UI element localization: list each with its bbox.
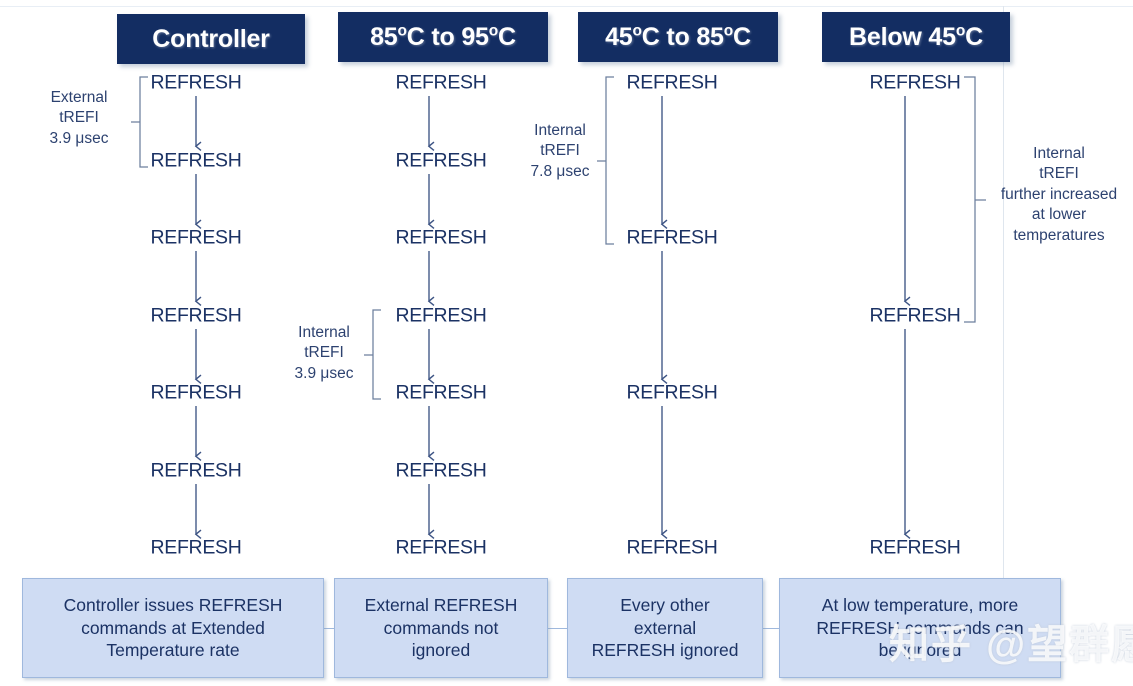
refresh-label: REFRESH — [395, 72, 486, 95]
top-guide-line — [0, 6, 1133, 7]
refresh-label: REFRESH — [150, 305, 241, 328]
note-connector — [545, 628, 569, 629]
diagram-canvas: Controller 85oC to 95oC 45oC to 85oC Bel… — [0, 0, 1133, 686]
note-below-45: At low temperature, more REFRESH command… — [779, 578, 1061, 678]
column-header-85c-to-95c-label: 85oC to 95oC — [370, 23, 516, 52]
refresh-label: REFRESH — [395, 305, 486, 328]
note-connector — [760, 628, 780, 629]
right-guide-line — [1003, 6, 1004, 666]
refresh-label: REFRESH — [869, 72, 960, 95]
refresh-label: REFRESH — [626, 382, 717, 405]
refresh-label: REFRESH — [869, 305, 960, 328]
refresh-label: REFRESH — [626, 72, 717, 95]
refresh-label: REFRESH — [626, 537, 717, 560]
refresh-label: REFRESH — [150, 382, 241, 405]
note-controller: Controller issues REFRESH commands at Ex… — [22, 578, 324, 678]
column-header-below-45c: Below 45oC — [822, 12, 1010, 62]
note-45-85: Every other external REFRESH ignored — [567, 578, 763, 678]
refresh-label: REFRESH — [150, 72, 241, 95]
annotation-internal-trefi-45-85: Internal tREFI 7.8 μsec — [521, 121, 599, 182]
refresh-label: REFRESH — [626, 227, 717, 250]
refresh-label: REFRESH — [869, 537, 960, 560]
annotation-internal-trefi-below-45: Internal tREFI further increased at lowe… — [989, 144, 1129, 246]
column-header-controller: Controller — [117, 14, 305, 64]
column-header-controller-label: Controller — [152, 25, 269, 54]
refresh-label: REFRESH — [150, 537, 241, 560]
column-header-45c-to-85c-label: 45oC to 85oC — [605, 23, 751, 52]
refresh-label: REFRESH — [395, 227, 486, 250]
refresh-label: REFRESH — [395, 537, 486, 560]
refresh-label: REFRESH — [395, 382, 486, 405]
refresh-label: REFRESH — [395, 150, 486, 173]
refresh-label: REFRESH — [395, 460, 486, 483]
refresh-label: REFRESH — [150, 460, 241, 483]
column-header-45c-to-85c: 45oC to 85oC — [578, 12, 778, 62]
refresh-label: REFRESH — [150, 150, 241, 173]
annotation-external-trefi-controller: External tREFI 3.9 μsec — [28, 88, 130, 149]
refresh-label: REFRESH — [150, 227, 241, 250]
column-header-85c-to-95c: 85oC to 95oC — [338, 12, 548, 62]
note-85-95: External REFRESH commands not ignored — [334, 578, 548, 678]
column-header-below-45c-label: Below 45oC — [849, 23, 983, 52]
annotation-internal-trefi-85-95: Internal tREFI 3.9 μsec — [283, 323, 365, 384]
